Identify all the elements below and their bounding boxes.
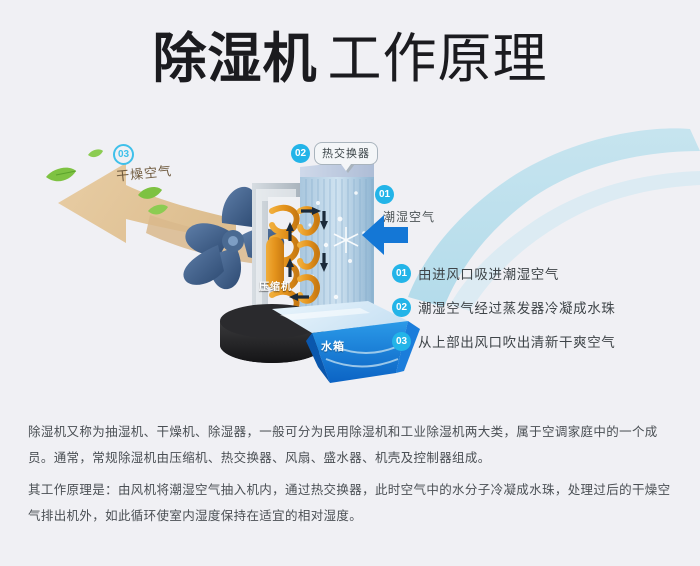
diagram-badge-02: 02 — [291, 144, 310, 163]
legend-list: 01 由进风口吸进潮湿空气 02 潮湿空气经过蒸发器冷凝成水珠 03 从上部出风… — [392, 256, 692, 358]
legend-item-02: 02 潮湿空气经过蒸发器冷凝成水珠 — [392, 290, 692, 324]
title-light-part: 工作原理 — [328, 29, 548, 89]
body-paragraph-2: 其工作原理是：由风机将潮湿空气抽入机内，通过热交换器，此时空气中的水分子冷凝成水… — [28, 478, 680, 529]
water-tank-label: 水箱 — [321, 338, 345, 354]
legend-badge-01: 01 — [392, 264, 411, 283]
humid-air-label: 潮湿空气 — [383, 208, 435, 225]
page-root: 除湿机工作原理 — [0, 0, 700, 566]
heat-exchanger-callout: 热交换器 — [314, 142, 378, 165]
body-paragraph-1: 除湿机又称为抽湿机、干燥机、除湿器，一般可分为民用除湿机和工业除湿机两大类，属于… — [28, 420, 680, 471]
legend-text-02: 潮湿空气经过蒸发器冷凝成水珠 — [418, 297, 615, 317]
page-title: 除湿机工作原理 — [0, 32, 700, 86]
legend-text-01: 由进风口吸进潮湿空气 — [418, 263, 559, 283]
leaf-icon-small — [88, 149, 103, 157]
legend-item-01: 01 由进风口吸进潮湿空气 — [392, 256, 692, 290]
legend-badge-03: 03 — [392, 332, 411, 351]
leaf-icon-2 — [138, 187, 162, 199]
legend-item-03: 03 从上部出风口吹出清新干爽空气 — [392, 324, 692, 358]
legend-text-03: 从上部出风口吹出清新干爽空气 — [418, 331, 615, 351]
legend-badge-02: 02 — [392, 298, 411, 317]
title-bold-part: 除湿机 — [153, 29, 318, 89]
diagram-badge-01: 01 — [375, 185, 394, 204]
diagram-badge-03: 03 — [113, 144, 134, 165]
compressor-label: 压缩机 — [259, 278, 292, 293]
